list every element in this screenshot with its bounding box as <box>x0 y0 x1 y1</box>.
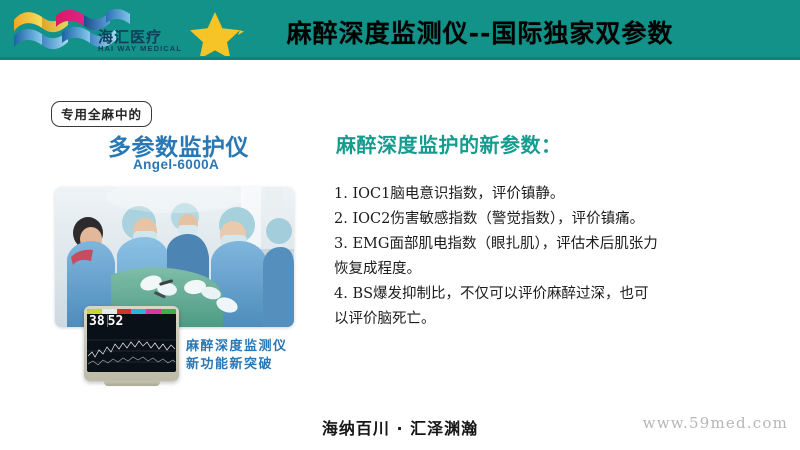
content-list-item: 恢复成程度。 <box>334 257 720 282</box>
product-badge: 专用全麻中的 <box>51 101 152 127</box>
photo-caption: 麻醉深度监测仪 新功能新突破 <box>186 338 288 375</box>
header-bottom-accent <box>0 57 800 60</box>
company-logo: 海汇医疗 HAI WAY MEDICAL <box>12 4 187 56</box>
star-icon <box>186 10 244 56</box>
page-header: 海汇医疗 HAI WAY MEDICAL 麻醉深度监测仪--国际独家双参数 <box>0 0 800 60</box>
patient-monitor-device: 38 52 <box>84 306 179 381</box>
content-list: 1. IOC1脑电意识指数，评价镇静。 2. IOC2伤害敏感指数（警觉指数），… <box>334 182 720 332</box>
content-list-item: 2. IOC2伤害敏感指数（警觉指数），评价镇痛。 <box>334 207 720 232</box>
content-list-item: 4. BS爆发抑制比，不仅可以评价麻醉过深，也可 <box>334 282 720 307</box>
content-list-item: 以评价脑死亡。 <box>334 307 720 332</box>
photo-caption-line-1: 麻醉深度监测仪 <box>186 338 288 356</box>
monitor-screen: 38 52 <box>87 309 176 372</box>
photo-caption-line-2: 新功能新突破 <box>186 356 288 374</box>
logo-name-en: HAI WAY MEDICAL <box>98 44 182 53</box>
site-watermark: www.59med.com <box>643 414 788 432</box>
content-list-item: 1. IOC1脑电意识指数，评价镇静。 <box>334 182 720 207</box>
content-heading: 麻醉深度监护的新参数： <box>336 129 562 158</box>
monitor-stand <box>104 381 160 386</box>
product-model: Angel-6000A <box>133 157 219 172</box>
monitor-value-ioc1: 38 <box>89 315 105 328</box>
monitor-trend-waveform <box>87 330 176 372</box>
monitor-value-ioc2: 52 <box>108 315 124 328</box>
content-list-item: 3. EMG面部肌电指数（眼扎肌），评估术后肌张力 <box>334 232 720 257</box>
monitor-value-divider <box>107 315 108 327</box>
page-title: 麻醉深度监测仪--国际独家双参数 <box>255 14 705 50</box>
